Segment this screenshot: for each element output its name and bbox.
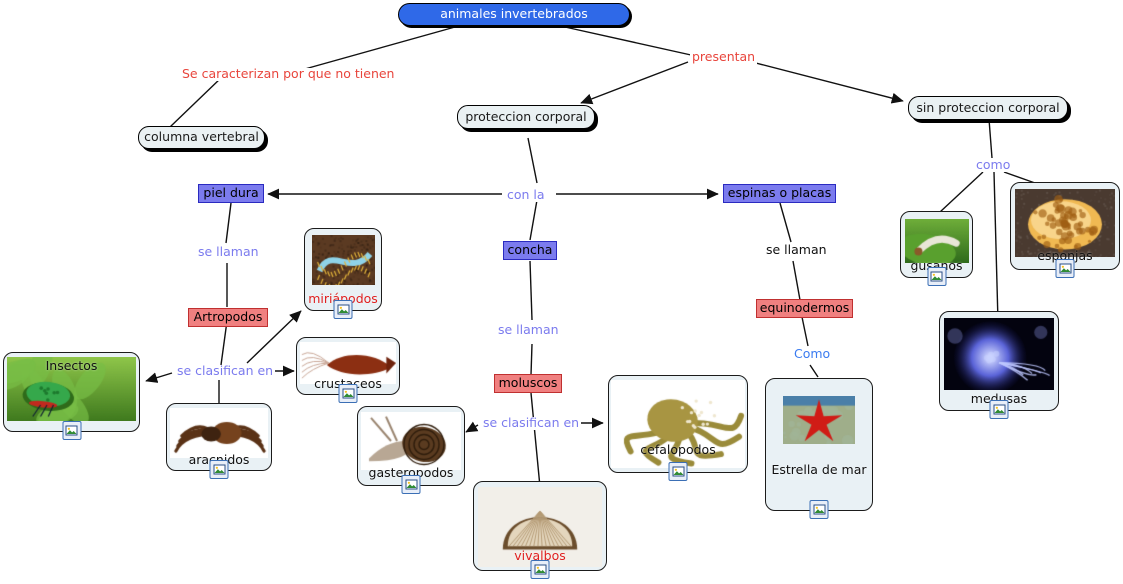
link-label-se-clasifican-en-moluscos: se clasifican en <box>481 417 581 430</box>
node-concha-label: concha <box>508 244 553 257</box>
link-label-como-equinodermos: Como <box>792 348 832 361</box>
image-icon[interactable] <box>1056 259 1075 278</box>
link-label-como-top-right: como <box>974 159 1012 172</box>
medusas-photo <box>944 318 1054 390</box>
node-columna-vertebral[interactable]: columna vertebral <box>138 126 265 149</box>
node-sin-proteccion-corporal-label: sin proteccion corporal <box>916 102 1059 115</box>
image-node-aracnidos[interactable]: aracnidos <box>166 403 272 471</box>
image-icon[interactable] <box>339 384 358 403</box>
estrella-de-mar-photo <box>783 396 855 444</box>
node-piel-dura[interactable]: piel dura <box>198 184 264 203</box>
link-label-se-llaman-piel-dura: se llaman <box>196 246 261 259</box>
image-node-medusas[interactable]: medusas <box>939 311 1059 411</box>
miriapodos-photo <box>312 235 375 285</box>
image-icon[interactable] <box>402 475 421 494</box>
link-label-se-clasifican-en-artropodos: se clasifican en <box>175 365 275 378</box>
node-root-label: animales invertebrados <box>440 8 588 21</box>
image-node-gasteropodos[interactable]: gasteropodos <box>357 406 465 486</box>
link-label-se-llaman-espinas: se llaman <box>764 244 829 257</box>
node-espinas-o-placas-label: espinas o placas <box>728 187 831 200</box>
node-piel-dura-label: piel dura <box>203 187 258 200</box>
node-equinodermos[interactable]: equinodermos <box>756 299 853 318</box>
image-node-esponjas[interactable]: esponjas <box>1010 182 1120 270</box>
node-proteccion-corporal-label: proteccion corporal <box>465 111 586 124</box>
node-artropodos-label: Artropodos <box>194 311 263 324</box>
image-node-insectos[interactable]: Insectos <box>3 352 140 432</box>
image-node-gusanos[interactable]: gusanos <box>900 211 973 278</box>
estrella-de-mar-caption: Estrella de mar <box>771 464 866 477</box>
image-icon[interactable] <box>810 500 829 519</box>
node-moluscos[interactable]: moluscos <box>494 374 562 393</box>
insectos-caption: Insectos <box>46 360 98 373</box>
image-node-estrella-de-mar[interactable]: Estrella de mar <box>765 378 873 511</box>
node-espinas-o-placas[interactable]: espinas o placas <box>723 184 836 203</box>
node-artropodos[interactable]: Artropodos <box>188 308 268 327</box>
image-node-crustaceos[interactable]: crustaceos <box>296 337 400 395</box>
gasteropodos-photo <box>361 412 461 470</box>
aracnidos-photo <box>170 408 268 458</box>
link-label-se-llaman-concha: se llaman <box>496 324 561 337</box>
gusanos-photo <box>905 219 969 263</box>
link-label-se-caracterizan: Se caracterizan por que no tienen <box>180 68 396 81</box>
node-columna-vertebral-label: columna vertebral <box>144 131 259 144</box>
image-icon[interactable] <box>210 460 229 479</box>
node-root[interactable]: animales invertebrados <box>398 3 630 26</box>
concept-map-canvas: animales invertebrados columna vertebral… <box>0 0 1123 584</box>
image-node-miriapodos[interactable]: miriápodos <box>304 228 382 311</box>
image-icon[interactable] <box>669 462 688 481</box>
image-icon[interactable] <box>531 560 550 579</box>
image-icon[interactable] <box>927 267 946 286</box>
link-label-con-la: con la <box>505 189 547 202</box>
image-icon[interactable] <box>62 421 81 440</box>
node-concha[interactable]: concha <box>503 241 557 260</box>
node-moluscos-label: moluscos <box>499 377 558 390</box>
node-sin-proteccion-corporal[interactable]: sin proteccion corporal <box>908 96 1068 120</box>
image-icon[interactable] <box>334 300 353 319</box>
image-node-cefalopodos[interactable]: cefalopodos <box>608 375 748 473</box>
node-equinodermos-label: equinodermos <box>760 302 849 315</box>
cefalopodos-caption: cefalopodos <box>640 444 715 457</box>
image-icon[interactable] <box>990 400 1009 419</box>
image-node-vivalbos[interactable]: vivalbos <box>473 481 607 571</box>
link-label-presentan: presentan <box>690 51 757 64</box>
node-proteccion-corporal[interactable]: proteccion corporal <box>457 105 595 129</box>
